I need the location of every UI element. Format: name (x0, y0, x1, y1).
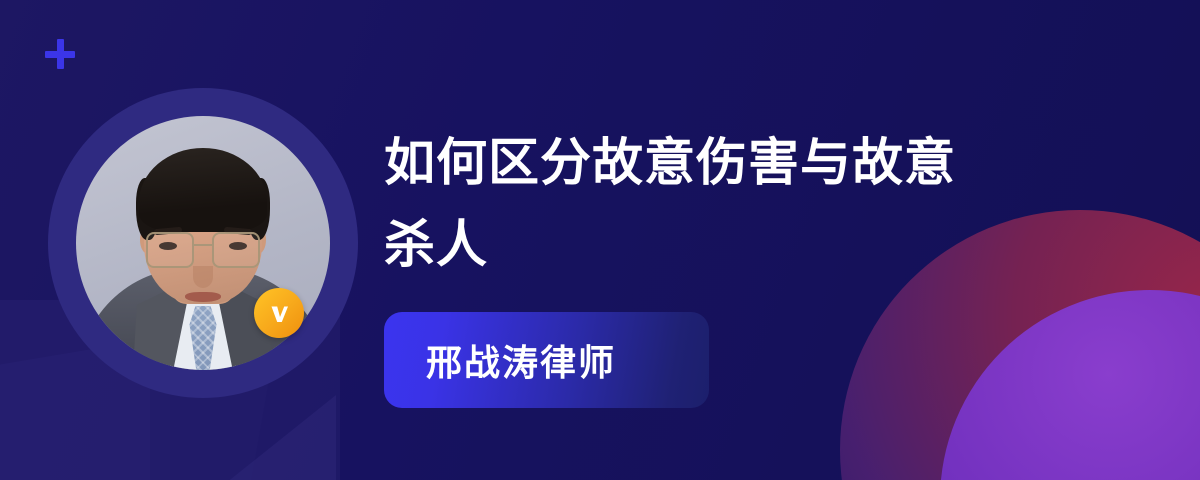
portrait-nose (193, 266, 213, 288)
author-button[interactable]: 邢战涛律师 (384, 312, 709, 408)
article-cover-card: 如何区分故意伤害与故意 杀人 邢战涛律师 (0, 0, 1200, 480)
page-title-line-2: 杀人 (384, 216, 488, 273)
page-title-line-1: 如何区分故意伤害与故意 (384, 134, 956, 191)
cover-text-block: 如何区分故意伤害与故意 杀人 邢战涛律师 (384, 122, 1084, 408)
portrait-hair (139, 148, 267, 232)
glasses-bridge (194, 244, 212, 246)
plus-icon (44, 38, 76, 70)
page-title: 如何区分故意伤害与故意 杀人 (384, 122, 1084, 286)
plus-icon-vertical-bar (57, 39, 64, 69)
portrait-glasses (140, 232, 266, 266)
verified-badge-icon (254, 288, 304, 338)
glasses-lens-left (146, 232, 194, 268)
portrait-mouth (185, 292, 221, 302)
glasses-lens-right (212, 232, 260, 268)
avatar[interactable] (48, 88, 358, 398)
